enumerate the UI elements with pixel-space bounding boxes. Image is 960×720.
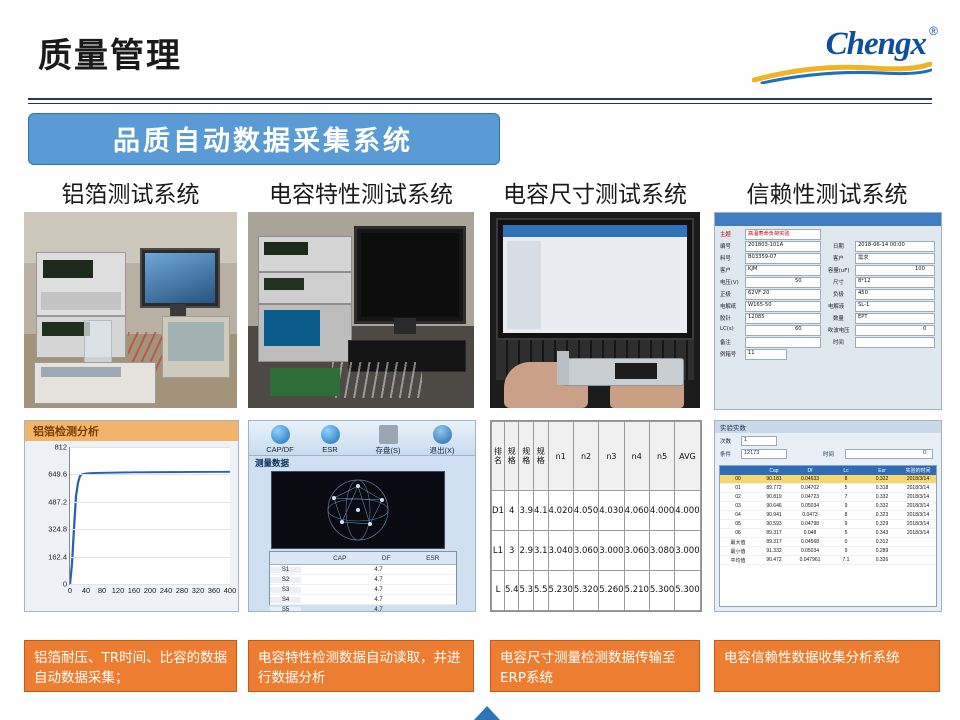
cell: 0.04702 bbox=[792, 485, 828, 491]
form-value-8: 8*12 bbox=[858, 278, 871, 284]
cell: S1 bbox=[270, 567, 301, 573]
cell: S2 bbox=[270, 577, 301, 583]
table-row[interactable]: D1 4 3.9 4.1 4.020 4.050 4.030 4.060 4.0… bbox=[492, 491, 703, 531]
cell: 3.060 bbox=[573, 531, 598, 571]
cell: 0.312 bbox=[864, 539, 900, 545]
cell: 4 bbox=[504, 491, 519, 531]
chart-gridline bbox=[70, 529, 230, 530]
company-logo-text: Chengx bbox=[826, 26, 926, 63]
cell: 0 bbox=[828, 539, 864, 545]
form-label-9: 正极 bbox=[720, 290, 731, 298]
network-globe-visual bbox=[271, 471, 445, 549]
cell: 02 bbox=[720, 494, 756, 500]
photo-capacitance-test-bench bbox=[248, 212, 474, 408]
cell: 2018/3/14 bbox=[900, 512, 936, 518]
table-row[interactable]: S1 4.7 bbox=[270, 565, 456, 575]
col-avg: AVG bbox=[675, 422, 700, 491]
cell: 89.317 bbox=[756, 530, 792, 536]
cell: 最大值 bbox=[720, 539, 756, 546]
chart-x-tick: 360 bbox=[208, 586, 221, 595]
table-header-row: 排名 规格 规格 规格 n1 n2 n3 n4 n5 AVG 结果 bbox=[492, 422, 703, 491]
table-header-row: CAP DF ESR bbox=[270, 552, 456, 565]
chart-x-tick: 240 bbox=[160, 586, 173, 595]
column-title-capacitance: 电容特性测试系统 bbox=[248, 175, 474, 209]
form-label-12: 电解液 bbox=[828, 302, 844, 310]
cell: 5 bbox=[828, 530, 864, 536]
form-input-18[interactable] bbox=[855, 337, 935, 348]
cell: 4.000 bbox=[675, 491, 700, 531]
cell: 0.04568 bbox=[792, 539, 828, 545]
toolbar-button-exit[interactable]: 退出(X) bbox=[419, 425, 465, 452]
toolbar-button-save[interactable]: 存盘(S) bbox=[365, 425, 411, 452]
table-row[interactable]: 01 89.772 0.04702 5 0.318 2018/3/14 bbox=[720, 484, 936, 493]
cell: 90.472 bbox=[756, 557, 792, 563]
table-row[interactable]: S4 4.7 bbox=[270, 595, 456, 605]
cell: 5.210 bbox=[624, 570, 649, 610]
reliability-grid[interactable]: Cap Df Lc Esr 实验的时间 00 90.181 0.04633 8 … bbox=[719, 465, 937, 607]
cell: 4.1 bbox=[534, 491, 549, 531]
toolbar-label-3: 退出(X) bbox=[430, 446, 455, 455]
column-title-dimension: 电容尺寸测试系统 bbox=[486, 175, 704, 209]
cell: 0.047961 bbox=[792, 557, 828, 563]
form-value-1: 201803-101A bbox=[748, 242, 783, 248]
cell: 8 bbox=[828, 512, 864, 518]
cell: 5.230 bbox=[548, 570, 573, 610]
form-label-1: 编号 bbox=[720, 242, 731, 250]
form-value-7: 50 bbox=[795, 278, 802, 284]
form-label-11: 电解纸 bbox=[720, 302, 736, 310]
col-spec1: 规格 bbox=[504, 422, 519, 491]
table-row-summary: 最大值 89.317 0.04568 0 0.312 bbox=[720, 538, 936, 547]
caption-foil: 铝箔耐压、TR时间、比容的数据自动数据采集； bbox=[24, 640, 237, 692]
cell: 90.181 bbox=[756, 476, 792, 482]
cell: 0.05034 bbox=[792, 503, 828, 509]
cell: 3.040 bbox=[548, 531, 573, 571]
col-3: Lc bbox=[828, 468, 864, 474]
table-row[interactable]: 06 89.317 0.048 5 0.343 2018/3/14 bbox=[720, 529, 936, 538]
reliability-form-window[interactable]: 主题 高温寿命负荷实验 编号 201803-101A 日期 2018-06-14… bbox=[714, 212, 942, 410]
form-value-13: 12085 bbox=[748, 314, 765, 320]
cell: 03 bbox=[720, 503, 756, 509]
col-1: Cap bbox=[756, 468, 792, 474]
filter-value-1: 12173 bbox=[744, 450, 759, 456]
col-5: 实验的时间 bbox=[900, 467, 936, 474]
table-row[interactable]: 03 90.646 0.05034 9 0.332 2018/3/14 bbox=[720, 502, 936, 511]
foil-analysis-chart-window: 铝箔检测分析 812649.6487.2324.8162.40040801201… bbox=[24, 420, 239, 612]
chart-gridline bbox=[70, 502, 230, 503]
table-row[interactable]: 05 90.593 0.04798 9 0.329 2018/3/14 bbox=[720, 520, 936, 529]
cell: 3.000 bbox=[675, 531, 700, 571]
cell: 0.318 bbox=[864, 485, 900, 491]
column-title-foil: 铝箔测试系统 bbox=[24, 175, 237, 209]
cell: 5.300 bbox=[649, 570, 674, 610]
form-value-11: W165-50 bbox=[748, 302, 772, 308]
col-n3: n3 bbox=[599, 422, 624, 491]
cell: 3.060 bbox=[624, 531, 649, 571]
filter-value-2: 0 bbox=[923, 450, 926, 456]
column-title-reliability: 信赖性测试系统 bbox=[714, 175, 940, 209]
cell: 89.772 bbox=[756, 485, 792, 491]
form-label-14: 数量 bbox=[833, 314, 844, 322]
cell: 2.9 bbox=[519, 531, 534, 571]
filter-label-1: 条件 bbox=[720, 450, 731, 458]
cell: 90.593 bbox=[756, 521, 792, 527]
chart-x-tick: 320 bbox=[192, 586, 205, 595]
cell: 5.4 bbox=[504, 570, 519, 610]
form-value-5: KJM bbox=[748, 266, 757, 272]
cell: 5.3 bbox=[519, 570, 534, 610]
header-divider bbox=[28, 98, 932, 100]
cell: 5 bbox=[828, 485, 864, 491]
col-rank: 排名 bbox=[492, 422, 505, 491]
form-input-7[interactable] bbox=[745, 277, 821, 288]
form-value-3: B03359-07 bbox=[748, 254, 777, 260]
toolbar-button-capdf[interactable]: CAP/DF bbox=[257, 425, 303, 452]
registered-trademark-icon: ® bbox=[929, 24, 938, 38]
col-spec2: 规格 bbox=[519, 422, 534, 491]
chart-gridline bbox=[70, 447, 230, 448]
cell: 4.7 bbox=[353, 577, 405, 583]
cell: 4.7 bbox=[353, 567, 405, 573]
form-label-13: 胶针 bbox=[720, 314, 731, 322]
form-value-0: 高温寿命负荷实验 bbox=[748, 230, 790, 237]
cell: 3.080 bbox=[649, 531, 674, 571]
chart-line-series bbox=[70, 447, 230, 584]
chart-plot-area: 812649.6487.2324.8162.400408012016020024… bbox=[69, 447, 230, 585]
cell: 2018/3/14 bbox=[900, 503, 936, 509]
cell: 3.1 bbox=[534, 531, 549, 571]
table-row[interactable]: S5 4.7 bbox=[270, 605, 456, 612]
cell: 7.1 bbox=[828, 557, 864, 563]
form-label-2: 日期 bbox=[833, 242, 844, 250]
chart-gridline bbox=[70, 474, 230, 475]
cell: 0.04798 bbox=[792, 521, 828, 527]
chart-x-tick: 160 bbox=[128, 586, 141, 595]
cell: OK bbox=[700, 570, 702, 610]
form-label-4: 客户 bbox=[833, 254, 844, 262]
toolbar-label-2: 存盘(S) bbox=[376, 446, 401, 455]
reliability-data-window[interactable]: 实验实数 次数 1 条件 12173 时间 0 Cap Df Lc Esr 实验… bbox=[714, 420, 942, 612]
cell: 5.5 bbox=[534, 570, 549, 610]
cell: 00 bbox=[720, 476, 756, 482]
cell: 4.060 bbox=[624, 491, 649, 531]
sphere-icon bbox=[321, 425, 340, 444]
form-value-16: 0 bbox=[923, 326, 926, 332]
cell: 91.332 bbox=[756, 548, 792, 554]
dimension-measurement-table[interactable]: 排名 规格 规格 规格 n1 n2 n3 n4 n5 AVG 结果 D1 4 3… bbox=[490, 420, 702, 612]
form-label-10: 负极 bbox=[833, 290, 844, 298]
col-2: DF bbox=[363, 555, 410, 562]
chart-gridline bbox=[70, 557, 230, 558]
table-row[interactable]: 00 90.181 0.04633 8 0.322 2018/3/14 bbox=[720, 475, 936, 484]
chart-y-tick: 487.2 bbox=[48, 497, 67, 506]
form-value-14: EPT bbox=[858, 314, 868, 320]
header-divider-thin bbox=[28, 103, 932, 104]
cell: 0.0473 bbox=[792, 512, 828, 518]
page-title: 质量管理 bbox=[38, 28, 182, 77]
cell: 2018/3/14 bbox=[900, 521, 936, 527]
photo-foil-test-bench bbox=[24, 212, 237, 408]
cell: 90.819 bbox=[756, 494, 792, 500]
chart-x-tick: 200 bbox=[144, 586, 157, 595]
caption-capacitance: 电容特性检测数据自动读取，并进行数据分析 bbox=[248, 640, 474, 692]
cell: 0.04633 bbox=[792, 476, 828, 482]
chart-x-tick: 280 bbox=[176, 586, 189, 595]
form-label-19: 例箱号 bbox=[720, 350, 736, 358]
col-2: Df bbox=[792, 468, 828, 474]
form-value-2: 2018-06-14 00:00 bbox=[858, 242, 905, 248]
cell: OK bbox=[700, 491, 702, 531]
cell: 4.030 bbox=[599, 491, 624, 531]
cell: 0.05034 bbox=[792, 548, 828, 554]
grid-header-row: Cap Df Lc Esr 实验的时间 bbox=[720, 466, 936, 475]
cell: L bbox=[492, 570, 505, 610]
table-row[interactable]: 04 90.941 0.0473 8 0.323 2018/3/14 bbox=[720, 511, 936, 520]
chart-gridline bbox=[70, 584, 230, 585]
cell: 01 bbox=[720, 485, 756, 491]
cell: 04 bbox=[720, 512, 756, 518]
chart-y-tick: 812 bbox=[54, 443, 67, 452]
exit-icon bbox=[433, 425, 452, 444]
cell: S5 bbox=[270, 607, 301, 613]
cell: D1 bbox=[492, 491, 505, 531]
cell: 0.332 bbox=[864, 503, 900, 509]
form-value-12: SL-1 bbox=[858, 302, 869, 308]
form-label-7: 电压(V) bbox=[720, 278, 739, 286]
cell: 4.050 bbox=[573, 491, 598, 531]
cell: 4.7 bbox=[353, 587, 405, 593]
chart-y-tick: 324.8 bbox=[48, 525, 67, 534]
cell: 4.000 bbox=[649, 491, 674, 531]
cell: 2018/3/14 bbox=[900, 476, 936, 482]
chart-x-tick: 80 bbox=[98, 586, 106, 595]
form-value-10: 450 bbox=[858, 290, 868, 296]
caption-reliability: 电容信赖性数据收集分析系统 bbox=[714, 640, 940, 692]
cell: 89.317 bbox=[756, 539, 792, 545]
cell: 平均值 bbox=[720, 557, 756, 564]
panel-title: 实验实数 bbox=[715, 421, 941, 433]
filter-input-2[interactable] bbox=[845, 449, 933, 459]
cell: 7 bbox=[828, 494, 864, 500]
cell: 4.7 bbox=[353, 597, 405, 603]
cell: 0.329 bbox=[864, 521, 900, 527]
filter-label-2: 时间 bbox=[823, 450, 834, 458]
cell: 90.646 bbox=[756, 503, 792, 509]
col-n1: n1 bbox=[548, 422, 573, 491]
cell: 5.300 bbox=[675, 570, 700, 610]
toolbar-label-0: CAP/DF bbox=[266, 445, 294, 454]
form-input-15[interactable] bbox=[745, 325, 821, 336]
filter-label-0: 次数 bbox=[720, 437, 731, 445]
cell: 0.289 bbox=[864, 548, 900, 554]
col-3: ESR bbox=[410, 555, 457, 562]
table-row[interactable]: 02 90.819 0.04723 7 0.332 2018/3/14 bbox=[720, 493, 936, 502]
table-row-summary: 平均值 90.472 0.047961 7.1 0.326 bbox=[720, 556, 936, 565]
measurement-section-label: 测量数据 bbox=[255, 457, 289, 469]
cell: 9 bbox=[828, 548, 864, 554]
cell: 最小值 bbox=[720, 548, 756, 555]
form-label-3: 料号 bbox=[720, 254, 731, 262]
toolbar-label-1: ESR bbox=[322, 445, 337, 454]
cell: 0.048 bbox=[792, 530, 828, 536]
table-row[interactable]: S2 4.7 bbox=[270, 575, 456, 585]
form-value-15: 60 bbox=[795, 326, 802, 332]
col-n4: n4 bbox=[624, 422, 649, 491]
cell: 5.260 bbox=[599, 570, 624, 610]
chart-title: 铝箔检测分析 bbox=[25, 421, 238, 441]
logo-swoosh-icon bbox=[752, 62, 932, 84]
form-label-15: LC(s) bbox=[720, 326, 734, 332]
form-value-9: 62VF 20 bbox=[748, 290, 769, 296]
col-n5: n5 bbox=[649, 422, 674, 491]
photo-caliper-measurement bbox=[490, 212, 700, 408]
cell: 2018/3/14 bbox=[900, 485, 936, 491]
form-value-19: 11 bbox=[748, 350, 755, 356]
form-value-4: 需求 bbox=[858, 254, 868, 261]
chart-y-tick: 0 bbox=[63, 580, 67, 589]
chart-y-tick: 162.4 bbox=[48, 552, 67, 561]
cell: OK bbox=[700, 531, 702, 571]
cell: 9 bbox=[828, 503, 864, 509]
chart-x-tick: 400 bbox=[224, 586, 237, 595]
banner-title: 品质自动数据采集系统 bbox=[28, 113, 498, 163]
cell: L1 bbox=[492, 531, 505, 571]
chart-y-tick: 649.6 bbox=[48, 470, 67, 479]
window-titlebar bbox=[715, 213, 941, 226]
form-value-6: 100 bbox=[915, 266, 925, 272]
table-row[interactable]: L 5.4 5.3 5.5 5.230 5.320 5.260 5.210 5.… bbox=[492, 570, 703, 610]
chart-x-tick: 120 bbox=[112, 586, 125, 595]
cell: 0.323 bbox=[864, 512, 900, 518]
cell: 05 bbox=[720, 521, 756, 527]
form-input-17[interactable] bbox=[745, 337, 821, 348]
caption-dimension: 电容尺寸测量检测数据传输至ERP系统 bbox=[490, 640, 700, 692]
form-label-16: 吹波电压 bbox=[828, 326, 850, 334]
measurement-table[interactable]: CAP DF ESR S1 4.7 S2 4.7 S3 4.7 S4 4.7 bbox=[269, 551, 457, 605]
cell: 90.941 bbox=[756, 512, 792, 518]
table-row[interactable]: S3 4.7 bbox=[270, 585, 456, 595]
table-row[interactable]: L1 3 2.9 3.1 3.040 3.060 3.000 3.060 3.0… bbox=[492, 531, 703, 571]
chart-x-tick: 0 bbox=[68, 586, 72, 595]
cell: 0.326 bbox=[864, 557, 900, 563]
chart-x-tick: 40 bbox=[82, 586, 90, 595]
capacitance-software-window[interactable]: CAP/DF ESR 存盘(S) 退出(X) 测量数据 bbox=[248, 420, 476, 612]
col-1: CAP bbox=[317, 555, 364, 562]
cell: 2018/3/14 bbox=[900, 494, 936, 500]
cell: 8 bbox=[828, 476, 864, 482]
toolbar-button-esr[interactable]: ESR bbox=[307, 425, 353, 452]
cell: 3.000 bbox=[599, 531, 624, 571]
col-4: Esr bbox=[864, 468, 900, 474]
cell: 0.343 bbox=[864, 530, 900, 536]
col-result: 结果 bbox=[700, 422, 702, 491]
form-label-0: 主题 bbox=[720, 230, 731, 238]
form-label-18: 时间 bbox=[833, 338, 844, 346]
form-label-6: 容量(uF) bbox=[828, 266, 850, 274]
form-label-17: 备注 bbox=[720, 338, 731, 346]
sphere-icon bbox=[271, 425, 290, 444]
col-n2: n2 bbox=[573, 422, 598, 491]
form-label-8: 尺寸 bbox=[833, 278, 844, 286]
cell: 0.332 bbox=[864, 494, 900, 500]
cell: 3 bbox=[504, 531, 519, 571]
cell: S3 bbox=[270, 587, 301, 593]
cell: 4.020 bbox=[548, 491, 573, 531]
slide-marker-icon bbox=[474, 706, 500, 720]
cell: 0.322 bbox=[864, 476, 900, 482]
cell: 0.04723 bbox=[792, 494, 828, 500]
cell: 4.7 bbox=[353, 607, 405, 613]
table-row-summary: 最小值 91.332 0.05034 9 0.289 bbox=[720, 547, 936, 556]
cell: 9 bbox=[828, 521, 864, 527]
cell: 5.320 bbox=[573, 570, 598, 610]
cell: S4 bbox=[270, 597, 301, 603]
form-label-5: 客户 bbox=[720, 266, 731, 274]
col-spec3: 规格 bbox=[534, 422, 549, 491]
cell: 3.9 bbox=[519, 491, 534, 531]
cell: 2018/3/14 bbox=[900, 530, 936, 536]
floppy-icon bbox=[379, 425, 398, 444]
cell: 06 bbox=[720, 530, 756, 536]
filter-value-0: 1 bbox=[744, 437, 747, 443]
